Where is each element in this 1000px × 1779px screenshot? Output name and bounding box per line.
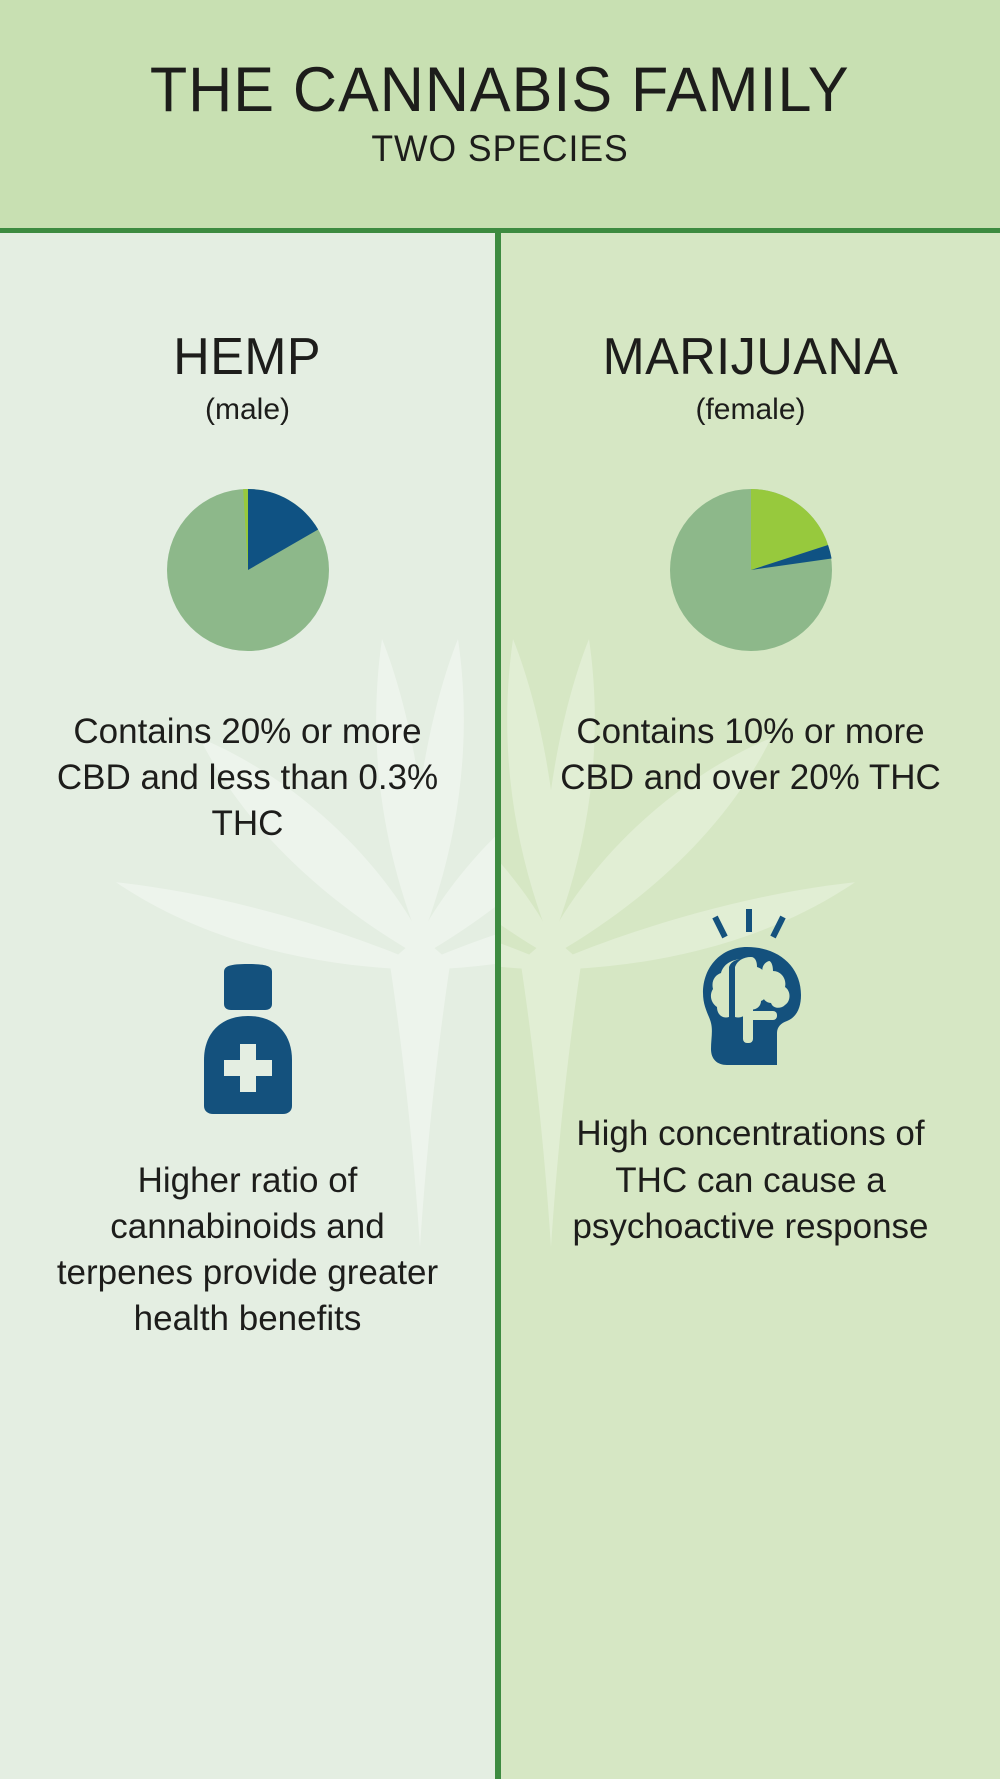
hemp-composition-pie xyxy=(167,489,329,651)
species-comparison: HEMP (male) Contains 20% or more CBD and… xyxy=(0,233,1000,1779)
icon-wrap-hemp xyxy=(158,914,338,1114)
page-title: THE CANNABIS FAMILY xyxy=(150,58,850,122)
infographic-header: THE CANNABIS FAMILY TWO SPECIES xyxy=(0,0,1000,233)
column-marijuana: MARIJUANA (female) Contains 10% or more … xyxy=(501,233,1000,1779)
pie-chart-marijuana xyxy=(670,489,832,651)
page-subtitle: TWO SPECIES xyxy=(371,128,628,170)
medicine-bottle-icon xyxy=(188,964,308,1114)
species-sex-marijuana: (female) xyxy=(695,393,805,427)
marijuana-composition-pie xyxy=(670,489,832,651)
fact-marijuana-composition: Contains 10% or more CBD and over 20% TH… xyxy=(551,709,951,801)
brain-head-icon xyxy=(681,907,821,1067)
fact-hemp-benefits: Higher ratio of cannabinoids and terpene… xyxy=(48,1158,448,1343)
species-name-marijuana: MARIJUANA xyxy=(603,327,899,387)
fact-marijuana-psychoactive: High concentrations of THC can cause a p… xyxy=(551,1111,951,1250)
icon-wrap-marijuana xyxy=(661,867,841,1067)
pie-chart-hemp xyxy=(167,489,329,651)
fact-hemp-composition: Contains 20% or more CBD and less than 0… xyxy=(48,709,448,848)
infographic-root: THE CANNABIS FAMILY TWO SPECIES HEMP (ma… xyxy=(0,0,1000,1779)
species-sex-hemp: (male) xyxy=(205,393,290,427)
column-hemp: HEMP (male) Contains 20% or more CBD and… xyxy=(0,233,495,1779)
species-name-hemp: HEMP xyxy=(174,327,322,387)
